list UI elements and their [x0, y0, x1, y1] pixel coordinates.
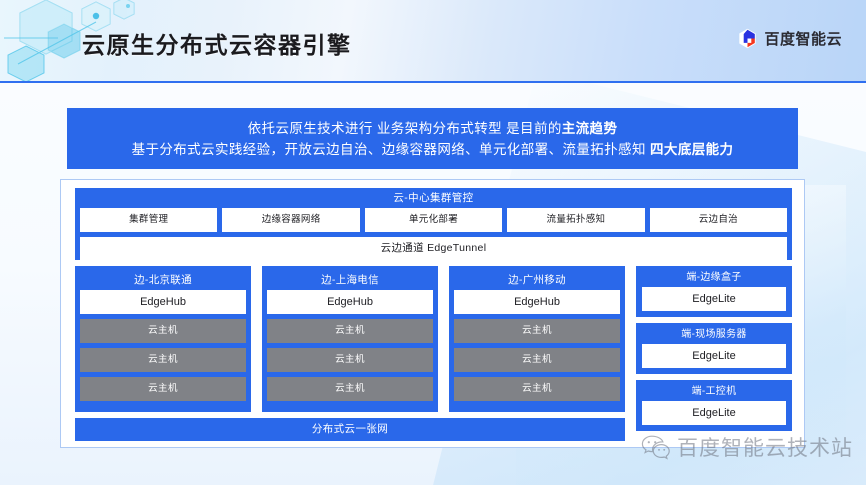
- edge-hub-box[interactable]: EdgeHub: [267, 290, 433, 314]
- edge-column-title: 边-上海电信: [267, 270, 433, 290]
- terminal-card-title: 端-工控机: [642, 383, 786, 401]
- banner-line-1-emphasis: 主流趋势: [562, 121, 618, 136]
- capability-box-edge-container-network[interactable]: 边缘容器网络: [222, 208, 359, 232]
- page-title: 云原生分布式云容器引擎: [82, 26, 352, 60]
- wechat-icon: [641, 434, 671, 460]
- architecture-diagram: 云-中心集群管控 集群管理 边缘容器网络 单元化部署 流量拓扑感知 云边自治 云…: [60, 179, 805, 448]
- capability-box-cluster-management[interactable]: 集群管理: [80, 208, 217, 232]
- header-divider: [0, 81, 866, 83]
- baidu-cloud-hexagon-icon: [738, 28, 757, 49]
- banner-line-2-text: 基于分布式云实践经验，开放云边自治、边缘容器网络、单元化部署、流量拓扑感知: [132, 142, 650, 157]
- edge-hub-box[interactable]: EdgeHub: [80, 290, 246, 314]
- watermark-text: 百度智能云技术站: [677, 432, 853, 462]
- edge-lite-box[interactable]: EdgeLite: [642, 401, 786, 425]
- cloud-host-node[interactable]: 云主机: [454, 319, 620, 343]
- terminal-region: 端-边缘盒子 EdgeLite 端-现场服务器 EdgeLite 端-工控机 E…: [636, 266, 792, 438]
- edge-column-beijing-unicom: 边-北京联通 EdgeHub 云主机 云主机 云主机: [75, 266, 251, 412]
- brand-lockup: 百度智能云: [738, 28, 842, 49]
- banner-line-1: 依托云原生技术进行 业务架构分布式转型 是目前的主流趋势: [67, 118, 798, 139]
- terminal-card-industrial-pc: 端-工控机 EdgeLite: [636, 380, 792, 431]
- cloud-host-node[interactable]: 云主机: [80, 348, 246, 372]
- terminal-card-title: 端-边缘盒子: [642, 269, 786, 287]
- edge-column-title: 边-北京联通: [80, 270, 246, 290]
- edge-lite-box[interactable]: EdgeLite: [642, 287, 786, 311]
- slide-root: 云原生分布式云容器引擎 百度智能云 依托云原生技术进行 业务架构分布式转型 是目…: [0, 0, 866, 485]
- capability-box-traffic-topology[interactable]: 流量拓扑感知: [507, 208, 644, 232]
- distributed-network-bar: 分布式云一张网: [75, 418, 625, 441]
- cloud-host-node[interactable]: 云主机: [267, 348, 433, 372]
- cloud-host-node[interactable]: 云主机: [454, 348, 620, 372]
- edge-column-shanghai-telecom: 边-上海电信 EdgeHub 云主机 云主机 云主机: [262, 266, 438, 412]
- banner-line-2: 基于分布式云实践经验，开放云边自治、边缘容器网络、单元化部署、流量拓扑感知 四大…: [67, 139, 798, 160]
- cloud-center-title: 云-中心集群管控: [75, 188, 792, 208]
- edge-column-title: 边-广州移动: [454, 270, 620, 290]
- terminal-card-title: 端-现场服务器: [642, 326, 786, 344]
- statement-banner: 依托云原生技术进行 业务架构分布式转型 是目前的主流趋势 基于分布式云实践经验，…: [67, 108, 798, 169]
- cloud-host-node[interactable]: 云主机: [267, 319, 433, 343]
- cloud-host-node[interactable]: 云主机: [80, 377, 246, 401]
- brand-name: 百度智能云: [764, 28, 842, 49]
- cloud-center-block: 云-中心集群管控 集群管理 边缘容器网络 单元化部署 流量拓扑感知 云边自治 云…: [75, 188, 792, 260]
- edge-hub-box[interactable]: EdgeHub: [454, 290, 620, 314]
- capability-box-cellular-deployment[interactable]: 单元化部署: [365, 208, 502, 232]
- edge-lite-box[interactable]: EdgeLite: [642, 344, 786, 368]
- edge-tunnel-box[interactable]: 云边通道 EdgeTunnel: [80, 237, 787, 260]
- capability-box-cloud-edge-autonomy[interactable]: 云边自治: [650, 208, 787, 232]
- banner-line-1-text: 依托云原生技术进行 业务架构分布式转型 是目前的: [248, 121, 562, 136]
- banner-line-2-emphasis: 四大底层能力: [650, 142, 733, 157]
- edge-region: 边-北京联通 EdgeHub 云主机 云主机 云主机 边-上海电信 EdgeHu…: [75, 266, 625, 412]
- slide-header: 云原生分布式云容器引擎 百度智能云: [0, 0, 866, 83]
- tunnel-row: 云边通道 EdgeTunnel: [75, 232, 792, 260]
- terminal-card-edge-box: 端-边缘盒子 EdgeLite: [636, 266, 792, 317]
- cloud-host-node[interactable]: 云主机: [454, 377, 620, 401]
- edge-column-guangzhou-mobile: 边-广州移动 EdgeHub 云主机 云主机 云主机: [449, 266, 625, 412]
- cloud-host-node[interactable]: 云主机: [80, 319, 246, 343]
- watermark: 百度智能云技术站: [641, 432, 853, 462]
- capability-row: 集群管理 边缘容器网络 单元化部署 流量拓扑感知 云边自治: [75, 208, 792, 232]
- terminal-card-onsite-server: 端-现场服务器 EdgeLite: [636, 323, 792, 374]
- cloud-host-node[interactable]: 云主机: [267, 377, 433, 401]
